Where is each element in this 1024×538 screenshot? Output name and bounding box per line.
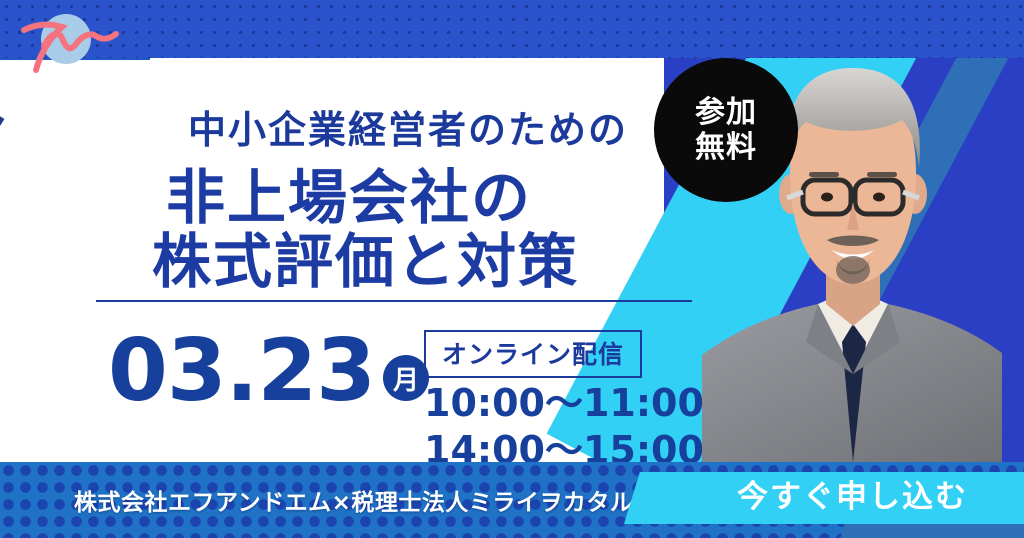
company-logo[interactable] bbox=[10, 6, 130, 76]
organizer-names: 株式会社エフアンドエム×税理士法人ミライヲカタル bbox=[74, 462, 633, 538]
headline-line2: 株式評価と対策 bbox=[152, 230, 579, 294]
subtitle: 中小企業経営者のための bbox=[188, 99, 628, 154]
seminar-banner: 参加 無料 中小企業経営者のための 非上場会社の 株式評価と対策 03.23 月… bbox=[0, 0, 1024, 538]
apply-now-label[interactable]: 今すぐ申し込む bbox=[737, 471, 968, 516]
event-date: 03.23 月 bbox=[108, 328, 429, 414]
day-of-week-badge: 月 bbox=[383, 355, 429, 401]
free-badge-line1: 参加 bbox=[695, 97, 757, 129]
date-number: 03.23 bbox=[108, 328, 375, 414]
top-dot-bar bbox=[0, 0, 1024, 58]
time-slot-1: 10:00〜11:00 bbox=[424, 382, 704, 425]
headline: 非上場会社の 株式評価と対策 bbox=[166, 166, 579, 293]
event-time-block: オンライン配信 10:00〜11:00 14:00〜15:00 bbox=[424, 330, 704, 471]
horizontal-divider bbox=[96, 300, 692, 302]
online-delivery-tag: オンライン配信 bbox=[424, 330, 642, 378]
headline-line1: 非上場会社の bbox=[166, 163, 532, 232]
free-participation-badge: 参加 無料 bbox=[654, 58, 798, 202]
free-badge-line2: 無料 bbox=[695, 132, 757, 164]
top-dot-pattern bbox=[0, 0, 1024, 58]
